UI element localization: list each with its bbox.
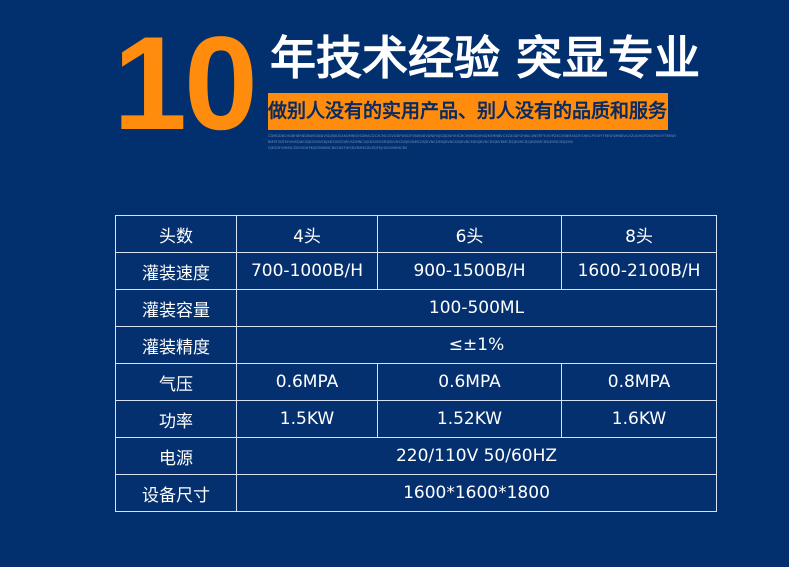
subtitle-text: 做别人没有的实用产品、别人没有的品质和服务！ (268, 93, 668, 130)
table-row: 设备尺寸 1600*1600*1800 (116, 475, 717, 512)
row-value: 700-1000B/H (237, 253, 378, 290)
row-label: 灌装精度 (116, 327, 237, 364)
decorative-filler-text: CDMDDBCHGBHBRNDBWVDNDVSDJSKDSAKDMNSVSDMA… (268, 133, 676, 155)
specification-table: 头数 4头 6头 8头 灌装速度 700-1000B/H 900-1500B/H… (115, 215, 717, 512)
subtitle-highlight-bar: 做别人没有的实用产品、别人没有的品质和服务！ (268, 93, 668, 130)
row-value-merged: ≤±1% (237, 327, 717, 364)
headline-text: 年技术经验 突显专业 (270, 28, 690, 88)
table-row: 头数 4头 6头 8头 (116, 216, 717, 253)
table-row: 灌装精度 ≤±1% (116, 327, 717, 364)
row-value: 6头 (378, 216, 562, 253)
row-value-merged: 220/110V 50/60HZ (237, 438, 717, 475)
table-row: 灌装容量 100-500ML (116, 290, 717, 327)
row-value: 0.6MPA (237, 364, 378, 401)
row-value: 1.6KW (562, 401, 717, 438)
row-value: 0.8MPA (562, 364, 717, 401)
row-label: 气压 (116, 364, 237, 401)
row-label: 功率 (116, 401, 237, 438)
specification-table-body: 头数 4头 6头 8头 灌装速度 700-1000B/H 900-1500B/H… (116, 216, 717, 512)
header-banner: 10 年技术经验 突显专业 做别人没有的实用产品、别人没有的品质和服务！ CDM… (0, 0, 789, 185)
row-value: 4头 (237, 216, 378, 253)
row-value: 1.5KW (237, 401, 378, 438)
row-label: 设备尺寸 (116, 475, 237, 512)
years-number: 10 (113, 12, 263, 157)
table-row: 电源 220/110V 50/60HZ (116, 438, 717, 475)
row-value-merged: 1600*1600*1800 (237, 475, 717, 512)
row-label: 灌装速度 (116, 253, 237, 290)
row-label: 头数 (116, 216, 237, 253)
table-row: 功率 1.5KW 1.52KW 1.6KW (116, 401, 717, 438)
table-row: 气压 0.6MPA 0.6MPA 0.8MPA (116, 364, 717, 401)
row-label: 灌装容量 (116, 290, 237, 327)
row-label: 电源 (116, 438, 237, 475)
row-value: 900-1500B/H (378, 253, 562, 290)
filler-line: HJKSDFVNMXCZBVSDHFKJSDVNMXCBVSDKFJHSDVNM… (268, 145, 508, 151)
row-value: 1.52KW (378, 401, 562, 438)
row-value: 8头 (562, 216, 717, 253)
row-value: 1600-2100B/H (562, 253, 717, 290)
table-row: 灌装速度 700-1000B/H 900-1500B/H 1600-2100B/… (116, 253, 717, 290)
row-value-merged: 100-500ML (237, 290, 717, 327)
row-value: 0.6MPA (378, 364, 562, 401)
